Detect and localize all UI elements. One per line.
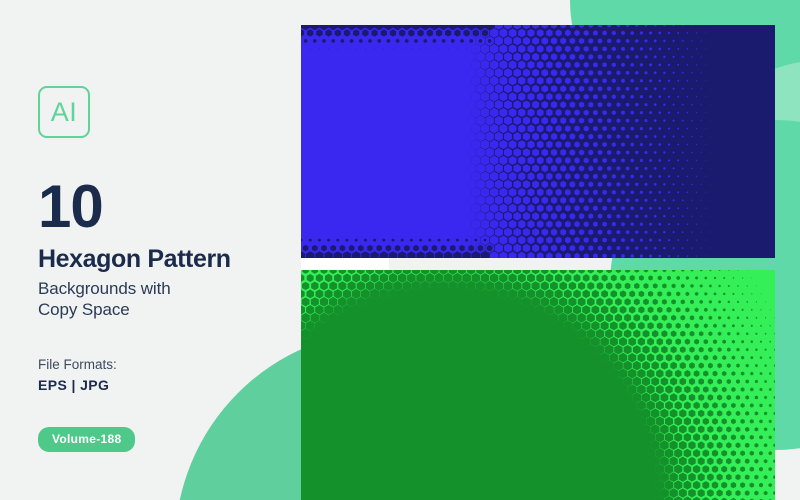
green-hexagon-pattern (301, 270, 775, 500)
page-title: Hexagon Pattern (38, 245, 288, 273)
info-column: AI 10 Hexagon Pattern Backgrounds with C… (38, 86, 288, 452)
pack-count: 10 (38, 178, 288, 235)
file-formats-value: EPS | JPG (38, 375, 288, 395)
page-subtitle-line-1: Backgrounds with (38, 278, 288, 299)
panel-divider-notch (301, 258, 389, 270)
page-subtitle-line-2: Copy Space (38, 299, 288, 320)
poster-canvas: AI 10 Hexagon Pattern Backgrounds with C… (0, 0, 800, 500)
blue-hexagon-panel (301, 25, 775, 258)
volume-badge: Volume-188 (38, 427, 135, 452)
blue-hexagon-pattern (301, 25, 775, 258)
page-subtitle: Backgrounds with Copy Space (38, 278, 288, 321)
green-hexagon-panel (301, 270, 775, 500)
file-formats-block: File Formats: EPS | JPG (38, 355, 288, 396)
file-formats-label: File Formats: (38, 355, 288, 375)
adobe-illustrator-badge-icon: AI (38, 86, 90, 138)
ai-badge-label: AI (51, 99, 78, 126)
